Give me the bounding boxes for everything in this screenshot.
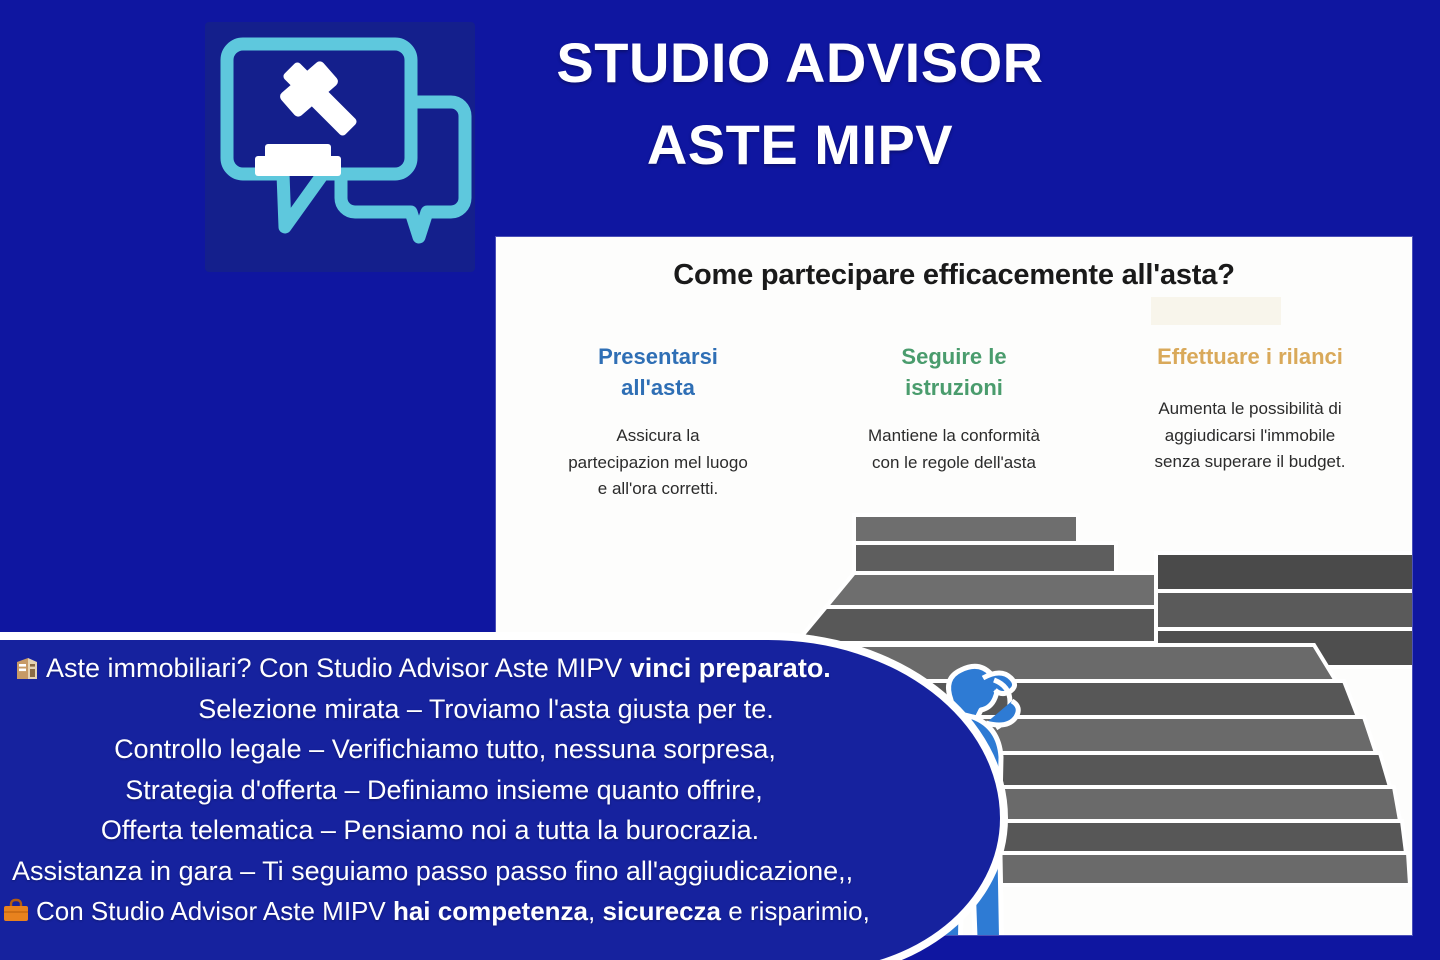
- column-body-line2: partecipazion mel luogo: [568, 453, 748, 472]
- bottom-line-6: Assistanza in gara – Ti seguiamo passo p…: [0, 851, 1010, 892]
- bottom-line-7-a: Con Studio Advisor Aste MIPV: [36, 896, 393, 926]
- brand-title: STUDIO ADVISOR ASTE MIPV: [470, 22, 1130, 187]
- poster-canvas: STUDIO ADVISOR ASTE MIPV Come partecipar…: [0, 0, 1440, 960]
- bottom-line-4: Strategia d'offerta – Definiamo insieme …: [0, 770, 1010, 811]
- column-heading-line2: all'asta: [621, 375, 695, 400]
- brand-title-line1: STUDIO ADVISOR: [556, 31, 1043, 94]
- column-body-line2: aggiudicarsi l'immobile: [1165, 426, 1335, 445]
- bottom-line-1: Aste immobiliari? Con Studio Advisor Ast…: [0, 648, 1010, 689]
- bottom-line-7: Con Studio Advisor Aste MIPV hai compete…: [0, 891, 1010, 932]
- column-body-line2: con le regole dell'asta: [872, 453, 1036, 472]
- card-column-istruzioni: Seguire le istruzioni Mantiene la confor…: [806, 341, 1102, 503]
- card-column-rilanci: Effettuare i rilanci Aumenta le possibil…: [1102, 341, 1398, 503]
- card-columns: Presentarsi all'asta Assicura la parteci…: [510, 341, 1398, 503]
- building-icon: [14, 652, 40, 678]
- column-body: Assicura la partecipazion mel luogo e al…: [518, 423, 798, 502]
- column-body-line3: senza superare il budget.: [1155, 452, 1346, 471]
- column-body-line1: Aumenta le possibilità di: [1158, 399, 1341, 418]
- bottom-line-2: Selezione mirata – Troviamo l'asta giust…: [0, 689, 1010, 730]
- column-heading-line1: Seguire le: [901, 344, 1006, 369]
- card-watermark: [1151, 297, 1281, 325]
- column-body: Aumenta le possibilità di aggiudicarsi l…: [1110, 396, 1390, 475]
- bottom-line-7-c: e risparimio,: [721, 896, 870, 926]
- brand-logo: [205, 22, 475, 272]
- bottom-line-5: Offerta telematica – Pensiamo noi a tutt…: [0, 810, 1010, 851]
- column-heading-line2: istruzioni: [905, 375, 1003, 400]
- column-heading-line1: Effettuare i rilanci: [1157, 344, 1343, 369]
- column-body-line1: Mantiene la conformità: [868, 426, 1040, 445]
- bottom-line-7-bold1: hai competenza: [393, 896, 588, 926]
- column-body-line1: Assicura la: [616, 426, 699, 445]
- briefcase-icon: [2, 896, 30, 924]
- bottom-line-1-plain: Aste immobiliari? Con Studio Advisor Ast…: [46, 653, 630, 683]
- column-heading-line1: Presentarsi: [598, 344, 718, 369]
- bottom-copy-block: Aste immobiliari? Con Studio Advisor Ast…: [0, 648, 1010, 932]
- brand-title-line2: ASTE MIPV: [470, 104, 1130, 186]
- column-body: Mantiene la conformità con le regole del…: [814, 423, 1094, 476]
- column-heading: Seguire le istruzioni: [814, 341, 1094, 403]
- bottom-line-3: Controllo legale – Verifichiamo tutto, n…: [0, 729, 1010, 770]
- bottom-line-1-bold: vinci preparato.: [630, 653, 831, 683]
- card-column-presentarsi: Presentarsi all'asta Assicura la parteci…: [510, 341, 806, 503]
- stairs-upper-left: [796, 515, 1196, 643]
- bottom-line-7-bold2: sicurecza: [602, 896, 721, 926]
- column-heading: Effettuare i rilanci: [1110, 341, 1390, 372]
- bottom-line-7-b: ,: [588, 896, 602, 926]
- column-heading: Presentarsi all'asta: [518, 341, 798, 403]
- card-title: Come partecipare efficacemente all'asta?: [496, 259, 1412, 292]
- gavel-speech-bubble-icon: [205, 22, 475, 272]
